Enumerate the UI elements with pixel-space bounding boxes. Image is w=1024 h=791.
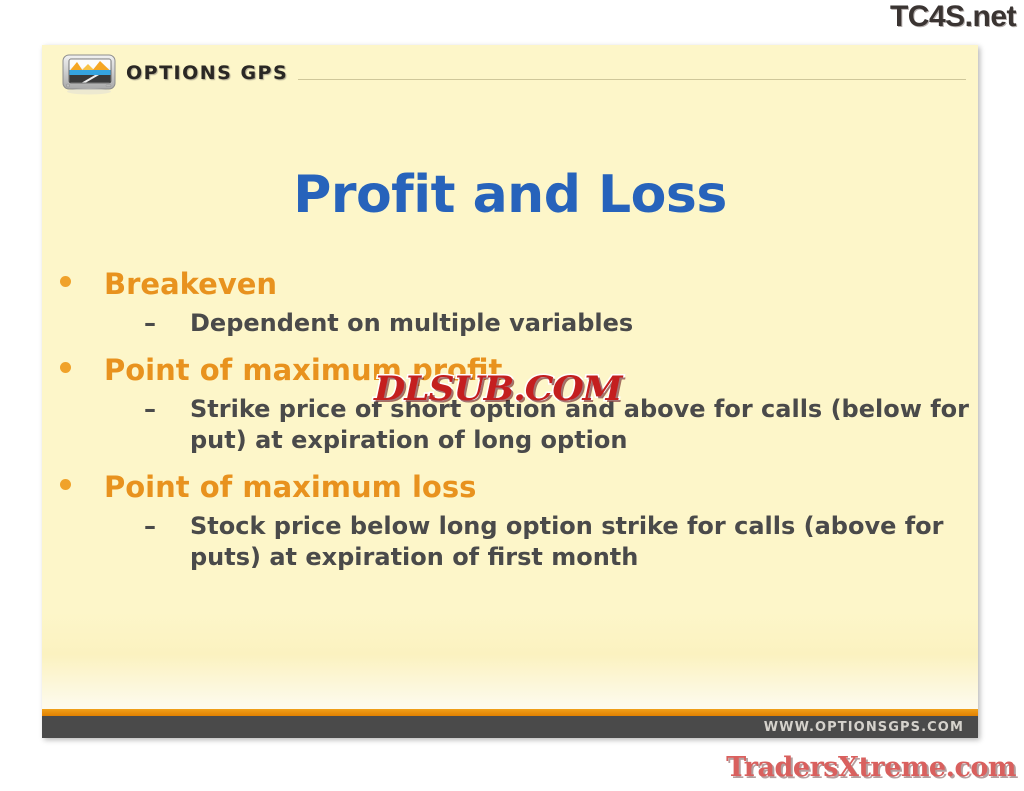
site-brand-bottom: TradersXtreme.com [726, 752, 1016, 783]
bullet-level1: Breakeven [42, 267, 978, 302]
sub-bullet-list: – Dependent on multiple variables [42, 308, 978, 339]
dash-marker-icon: – [144, 394, 156, 425]
bullet-level2: – Stock price below long option strike f… [42, 511, 978, 572]
bullet-level1: Point of maximum loss [42, 470, 978, 505]
logo-wordmark: OPTIONS GPS [126, 62, 288, 84]
bullet-level2-label: Stock price below long option strike for… [190, 512, 944, 571]
site-brand-top: TC4S.net [890, 2, 1016, 32]
bullet-level2-label: Dependent on multiple variables [190, 309, 633, 337]
sub-bullet-list: – Stock price below long option strike f… [42, 511, 978, 572]
watermark-overlay: DLSUB.COM [374, 369, 621, 409]
page-title: Profit and Loss [42, 165, 978, 225]
gps-device-icon [62, 53, 118, 95]
header-divider [298, 79, 966, 80]
bullet-dot-icon [60, 362, 71, 373]
footer-accent-bar [42, 709, 978, 716]
slide-header: OPTIONS GPS [42, 45, 978, 103]
bullet-dot-icon [60, 479, 71, 490]
bullet-level1-label: Point of maximum loss [104, 470, 476, 504]
bullet-level1-label: Breakeven [104, 267, 277, 301]
bullet-dot-icon [60, 276, 71, 287]
footer-url-label: WWW.OPTIONSGPS.COM [764, 720, 964, 735]
slide-body: Breakeven – Dependent on multiple variab… [42, 267, 978, 587]
dash-marker-icon: – [144, 308, 156, 339]
bullet-level2: – Dependent on multiple variables [42, 308, 978, 339]
dash-marker-icon: – [144, 511, 156, 542]
